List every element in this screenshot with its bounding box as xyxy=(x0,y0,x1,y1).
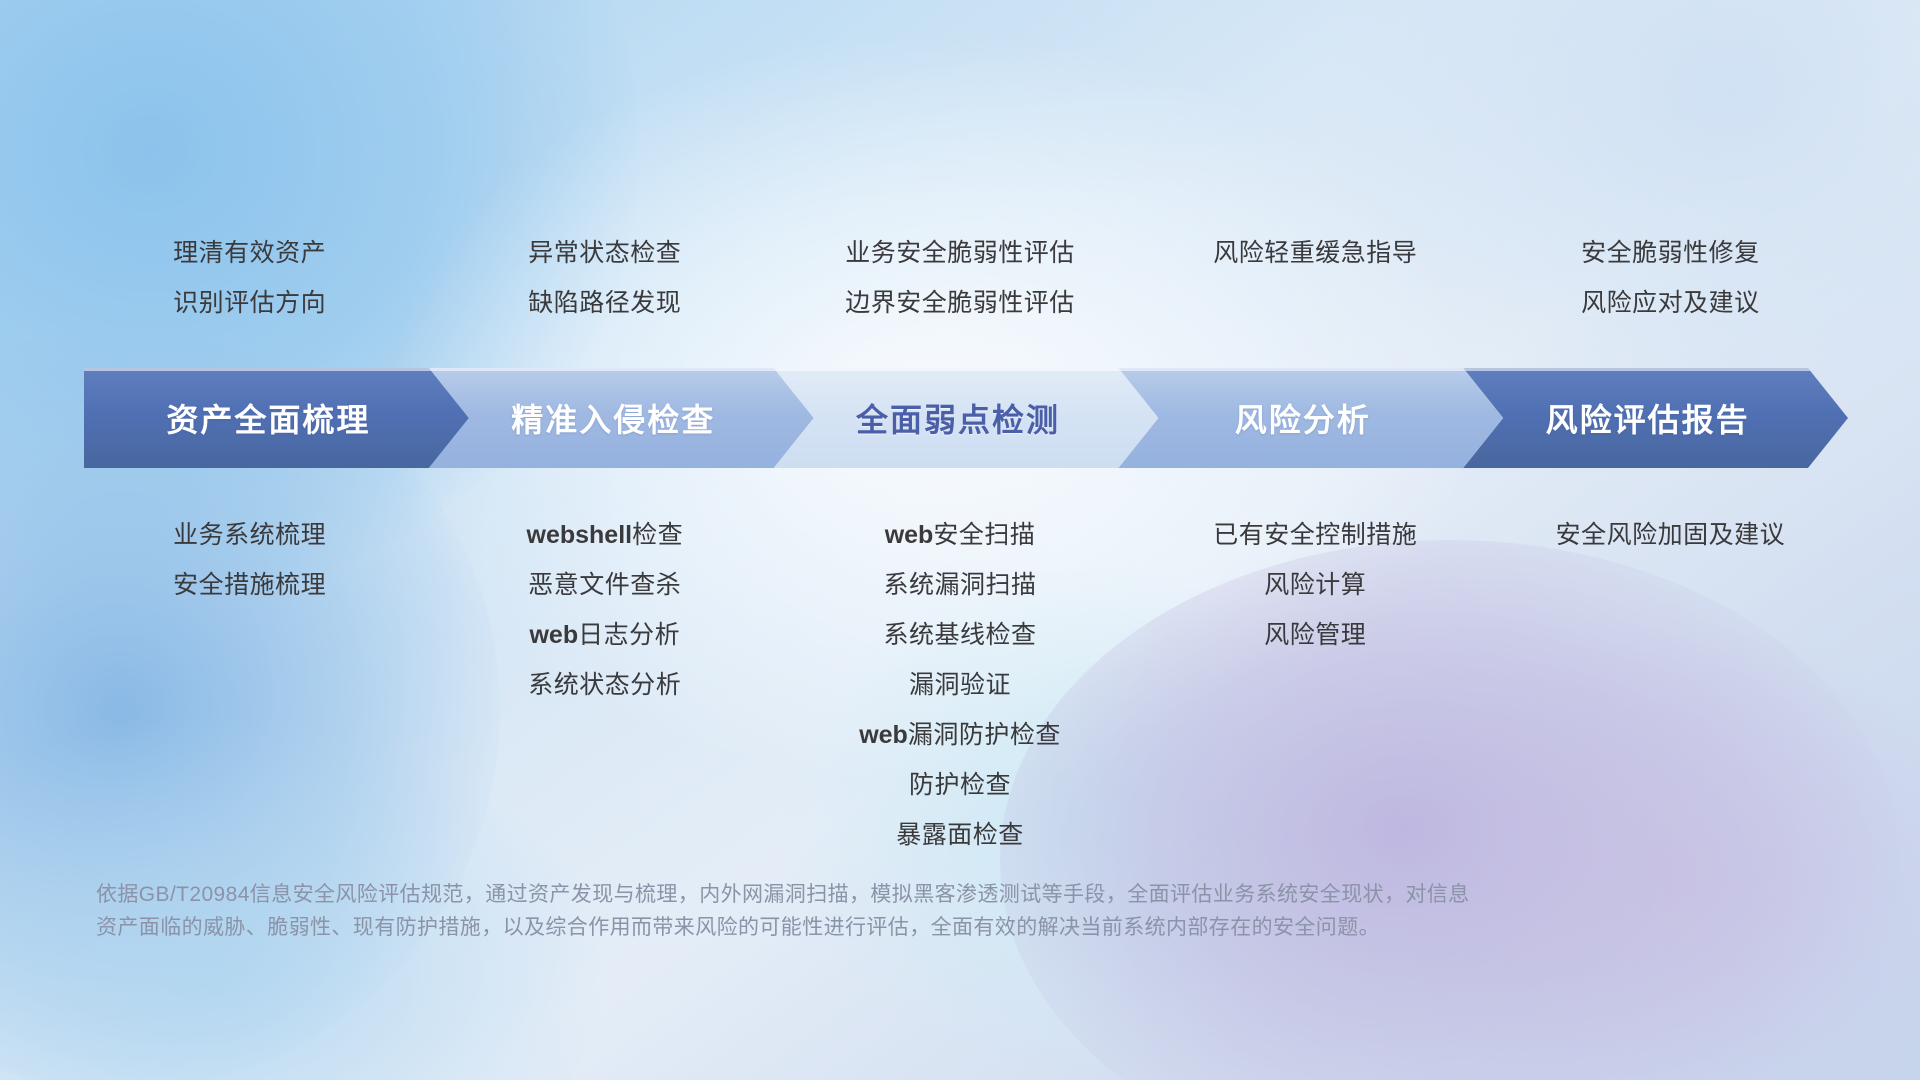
bottom-activity-item: 安全风险加固及建议 xyxy=(1493,510,1848,560)
bottom-activity-item-cjk: 风险计算 xyxy=(1264,571,1366,599)
bottom-activity-item-cjk: 安全扫描 xyxy=(933,521,1035,549)
process-arrow-assessment-report[interactable]: 风险评估报告 xyxy=(1463,368,1848,468)
bottom-activity-item: 风险计算 xyxy=(1138,560,1493,610)
bottom-activity-weakness-detection: web安全扫描系统漏洞扫描系统基线检查漏洞验证web漏洞防护检查防护检查暴露面检… xyxy=(782,510,1137,860)
slide-canvas: 理清有效资产识别评估方向异常状态检查缺陷路径发现业务安全脆弱性评估边界安全脆弱性… xyxy=(0,0,1920,1080)
bottom-activity-item: 系统漏洞扫描 xyxy=(782,560,1137,610)
bottom-activity-item-ascii: web xyxy=(885,521,934,549)
footer-line-1: 依据GB/T20984信息安全风险评估规范，通过资产发现与梳理，内外网漏洞扫描，… xyxy=(96,878,1736,911)
top-outcome-risk-analysis: 风险轻重缓急指导 xyxy=(1138,228,1493,328)
top-outcome-item: 缺陷路径发现 xyxy=(427,278,782,328)
top-outcome-intrusion-check: 异常状态检查缺陷路径发现 xyxy=(427,228,782,328)
top-outcome-item: 异常状态检查 xyxy=(427,228,782,278)
bottom-activity-item: 防护检查 xyxy=(782,760,1137,810)
process-arrow-weakness-detection[interactable]: 全面弱点检测 xyxy=(774,368,1159,468)
process-arrow-intrusion-check[interactable]: 精准入侵检查 xyxy=(429,368,814,468)
top-outcome-item: 业务安全脆弱性评估 xyxy=(782,228,1137,278)
bottom-activity-item: web漏洞防护检查 xyxy=(782,710,1137,760)
arrow-top-highlight xyxy=(429,368,814,371)
bottom-activity-item: web安全扫描 xyxy=(782,510,1137,560)
bottom-activity-item-cjk: 系统状态分析 xyxy=(528,671,681,699)
top-outcome-assessment-report: 安全脆弱性修复风险应对及建议 xyxy=(1493,228,1848,328)
process-arrow-label-asset-inventory: 资产全面梳理 xyxy=(84,395,469,441)
bottom-activity-item-cjk: 防护检查 xyxy=(909,771,1011,799)
arrow-top-highlight xyxy=(774,368,1159,371)
top-outcome-item: 识别评估方向 xyxy=(72,278,427,328)
top-outcome-item: 风险应对及建议 xyxy=(1493,278,1848,328)
bottom-activity-item: 业务系统梳理 xyxy=(72,510,427,560)
footer-line-2: 资产面临的威胁、脆弱性、现有防护措施，以及综合作用而带来风险的可能性进行评估，全… xyxy=(96,911,1736,944)
bottom-activity-item: 安全措施梳理 xyxy=(72,560,427,610)
top-outcome-lists: 理清有效资产识别评估方向异常状态检查缺陷路径发现业务安全脆弱性评估边界安全脆弱性… xyxy=(72,228,1848,328)
bottom-activity-risk-analysis: 已有安全控制措施风险计算风险管理 xyxy=(1138,510,1493,860)
bottom-activity-item-cjk: 漏洞验证 xyxy=(909,671,1011,699)
top-outcome-asset-inventory: 理清有效资产识别评估方向 xyxy=(72,228,427,328)
bottom-activity-item: 系统状态分析 xyxy=(427,660,782,710)
bottom-activity-item: 风险管理 xyxy=(1138,610,1493,660)
bottom-activity-item-ascii: web xyxy=(529,621,578,649)
process-arrow-label-weakness-detection: 全面弱点检测 xyxy=(774,395,1159,441)
process-arrow-label-intrusion-check: 精准入侵检查 xyxy=(429,395,814,441)
bottom-activity-item-cjk: 检查 xyxy=(632,521,683,549)
bottom-activity-item-cjk: 暴露面检查 xyxy=(896,821,1024,849)
bottom-activity-item: 漏洞验证 xyxy=(782,660,1137,710)
arrow-top-highlight xyxy=(84,368,469,371)
bottom-activity-item-cjk: 漏洞防护检查 xyxy=(908,721,1061,749)
top-outcome-weakness-detection: 业务安全脆弱性评估边界安全脆弱性评估 xyxy=(782,228,1137,328)
arrow-top-highlight xyxy=(1118,368,1503,371)
bottom-activity-item: 已有安全控制措施 xyxy=(1138,510,1493,560)
bottom-activity-item: 恶意文件查杀 xyxy=(427,560,782,610)
bottom-activity-item-cjk: 安全风险加固及建议 xyxy=(1556,521,1786,549)
bottom-activity-lists: 业务系统梳理安全措施梳理webshell检查恶意文件查杀web日志分析系统状态分… xyxy=(72,510,1848,860)
process-arrow-band: 资产全面梳理精准入侵检查全面弱点检测风险分析风险评估报告 xyxy=(84,368,1848,468)
bottom-activity-item-ascii: webshell xyxy=(527,521,633,549)
bottom-activity-item-cjk: 安全措施梳理 xyxy=(173,571,326,599)
top-outcome-item: 理清有效资产 xyxy=(72,228,427,278)
bottom-activity-item-cjk: 系统基线检查 xyxy=(884,621,1037,649)
bottom-activity-item: web日志分析 xyxy=(427,610,782,660)
bottom-activity-item-cjk: 系统漏洞扫描 xyxy=(884,571,1037,599)
arrow-top-highlight xyxy=(1463,368,1848,371)
bottom-activity-item: 暴露面检查 xyxy=(782,810,1137,860)
bottom-activity-item-cjk: 日志分析 xyxy=(578,621,680,649)
top-outcome-item: 边界安全脆弱性评估 xyxy=(782,278,1137,328)
process-arrow-label-risk-analysis: 风险分析 xyxy=(1118,395,1503,441)
bottom-activity-item: webshell检查 xyxy=(427,510,782,560)
process-arrow-risk-analysis[interactable]: 风险分析 xyxy=(1118,368,1503,468)
bottom-activity-item-cjk: 业务系统梳理 xyxy=(173,521,326,549)
bottom-activity-intrusion-check: webshell检查恶意文件查杀web日志分析系统状态分析 xyxy=(427,510,782,860)
bottom-activity-asset-inventory: 业务系统梳理安全措施梳理 xyxy=(72,510,427,860)
bottom-activity-item-cjk: 已有安全控制措施 xyxy=(1213,521,1417,549)
process-arrow-label-assessment-report: 风险评估报告 xyxy=(1463,395,1848,441)
bottom-activity-item-ascii: web xyxy=(859,721,908,749)
bottom-activity-item-cjk: 风险管理 xyxy=(1264,621,1366,649)
bottom-activity-item: 系统基线检查 xyxy=(782,610,1137,660)
process-arrow-asset-inventory[interactable]: 资产全面梳理 xyxy=(84,368,469,468)
bottom-activity-assessment-report: 安全风险加固及建议 xyxy=(1493,510,1848,860)
bottom-activity-item-cjk: 恶意文件查杀 xyxy=(528,571,681,599)
footer-description: 依据GB/T20984信息安全风险评估规范，通过资产发现与梳理，内外网漏洞扫描，… xyxy=(96,878,1736,944)
top-outcome-item: 风险轻重缓急指导 xyxy=(1138,228,1493,278)
top-outcome-item: 安全脆弱性修复 xyxy=(1493,228,1848,278)
